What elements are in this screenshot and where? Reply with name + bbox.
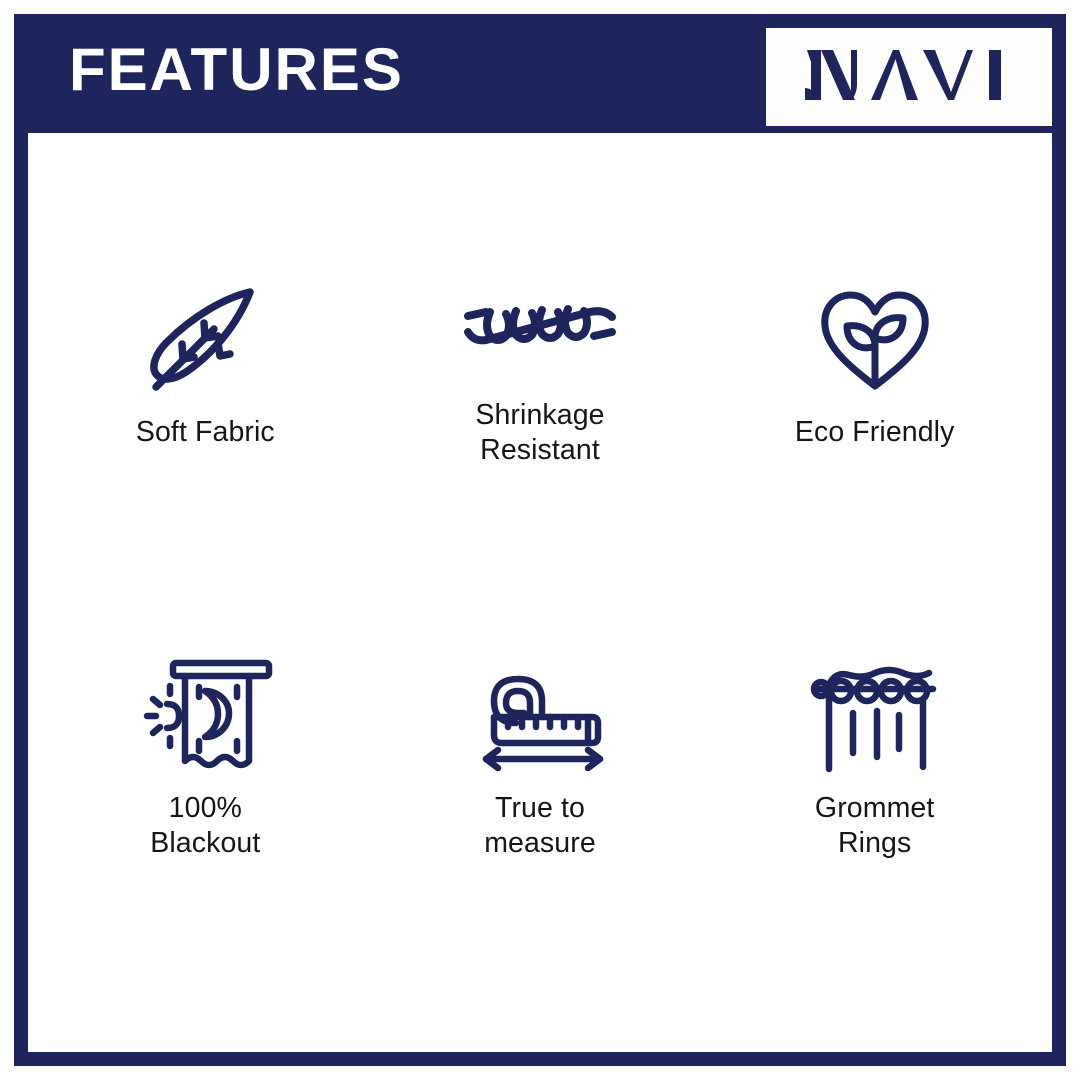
- feature-label: Eco Friendly: [795, 415, 955, 450]
- curtain-sun-moon-icon: [137, 657, 273, 777]
- feature-label: Shrinkage Resistant: [475, 398, 604, 468]
- heart-sprout-icon: [817, 281, 933, 401]
- feature-item-grommet-rings: Grommet Rings: [707, 563, 1042, 957]
- feature-label: 100% Blackout: [150, 791, 260, 861]
- feature-label: True to measure: [484, 791, 596, 861]
- feature-label: Grommet Rings: [815, 791, 934, 861]
- content-area: Soft Fabric S: [28, 133, 1052, 1052]
- grommet-rings-icon: [811, 657, 939, 777]
- feature-item-eco-friendly: Eco Friendly: [707, 169, 1042, 563]
- feature-item-shrinkage-resistant: Shrinkage Resistant: [373, 169, 708, 563]
- brand-logo-panel: [766, 28, 1052, 126]
- feature-item-soft-fabric: Soft Fabric: [38, 169, 373, 563]
- feature-grid: Soft Fabric S: [28, 133, 1052, 1052]
- feather-icon: [142, 281, 268, 401]
- navi-wordmark-icon: [799, 44, 1019, 111]
- tape-measure-icon: [474, 657, 606, 777]
- poster-frame: FEATURES: [14, 14, 1066, 1066]
- feature-item-true-to-measure: True to measure: [373, 563, 708, 957]
- page-title: FEATURES: [69, 40, 404, 100]
- twisted-rope-icon: [464, 264, 616, 384]
- feature-label: Soft Fabric: [136, 415, 275, 450]
- feature-item-blackout: 100% Blackout: [38, 563, 373, 957]
